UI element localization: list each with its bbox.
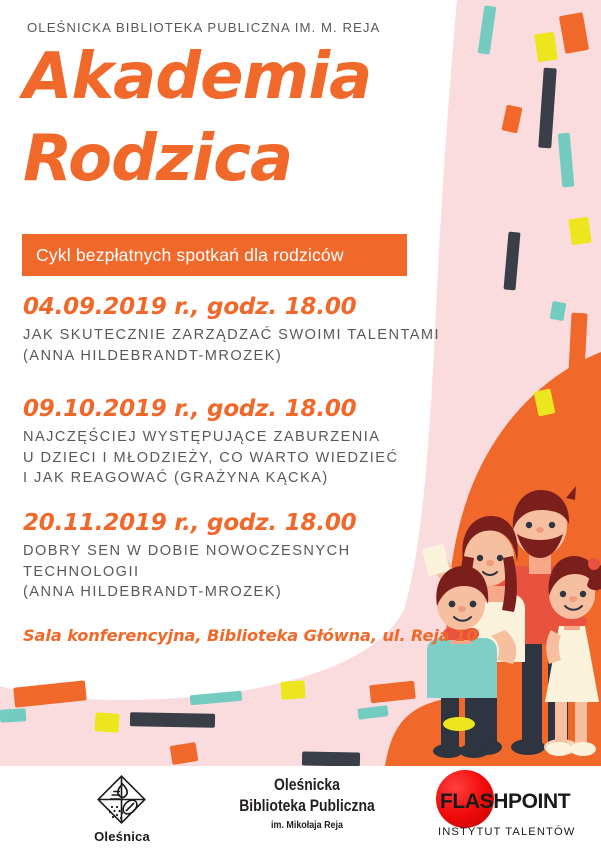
olesnica-diamond-icon	[96, 774, 148, 826]
event-item-1: 04.09.2019 r., godz. 18.00 JAK SKUTECZNI…	[23, 294, 440, 366]
poster-title-line-2: Rodzica	[23, 128, 292, 191]
poster: OLEŚNICKA BIBLIOTEKA PUBLICZNA IM. M. RE…	[0, 0, 601, 850]
subtitle-banner: Cykl bezpłatnych spotkań dla rodziców	[22, 234, 407, 276]
event-description-1: JAK SKUTECZNIE ZARZĄDZAĆ SWOIMI TALENTAM…	[23, 325, 440, 366]
olesnica-city-logo: Oleśnica	[72, 774, 172, 844]
library-logo-line-3: im. Mikołaja Reja	[222, 819, 392, 831]
flashpoint-word-first: FLASH	[440, 790, 508, 813]
event-date-2: 09.10.2019 r., godz. 18.00	[23, 396, 398, 422]
venue-text: Sala konferencyjna, Biblioteka Główna, u…	[23, 626, 478, 645]
olesnica-city-logo-label: Oleśnica	[72, 829, 172, 844]
event-date-3: 20.11.2019 r., godz. 18.00	[23, 510, 356, 536]
flashpoint-word-second: POINT	[508, 790, 570, 813]
event-date-1: 04.09.2019 r., godz. 18.00	[23, 294, 440, 320]
subtitle-banner-text: Cykl bezpłatnych spotkań dla rodziców	[22, 245, 344, 266]
flashpoint-wordmark: FLASHPOINT	[440, 790, 570, 814]
library-logo-line-1: Oleśnicka	[225, 774, 389, 795]
event-description-2: NAJCZĘŚCIEJ WYSTĘPUJĄCE ZABURZENIA U DZI…	[23, 427, 398, 489]
poster-title-line-1: Akademia	[23, 46, 371, 109]
event-item-2: 09.10.2019 r., godz. 18.00 NAJCZĘŚCIEJ W…	[23, 396, 398, 489]
flashpoint-subtitle: INSTYTUT TALENTÓW	[438, 826, 575, 838]
library-logo-line-2: Biblioteka Publiczna	[225, 795, 389, 816]
organization-kicker: OLEŚNICKA BIBLIOTEKA PUBLICZNA IM. M. RE…	[27, 20, 380, 35]
flashpoint-logo: FLASHPOINT INSTYTUT TALENTÓW	[432, 770, 592, 846]
library-logo: Oleśnicka Biblioteka Publiczna im. Mikoł…	[207, 774, 407, 831]
footer-logos: Oleśnica Oleśnicka Biblioteka Publiczna …	[0, 766, 601, 850]
poster-content: OLEŚNICKA BIBLIOTEKA PUBLICZNA IM. M. RE…	[0, 0, 601, 850]
event-description-3: DOBRY SEN W DOBIE NOWOCZESNYCH TECHNOLOG…	[23, 541, 356, 603]
event-item-3: 20.11.2019 r., godz. 18.00 DOBRY SEN W D…	[23, 510, 356, 603]
